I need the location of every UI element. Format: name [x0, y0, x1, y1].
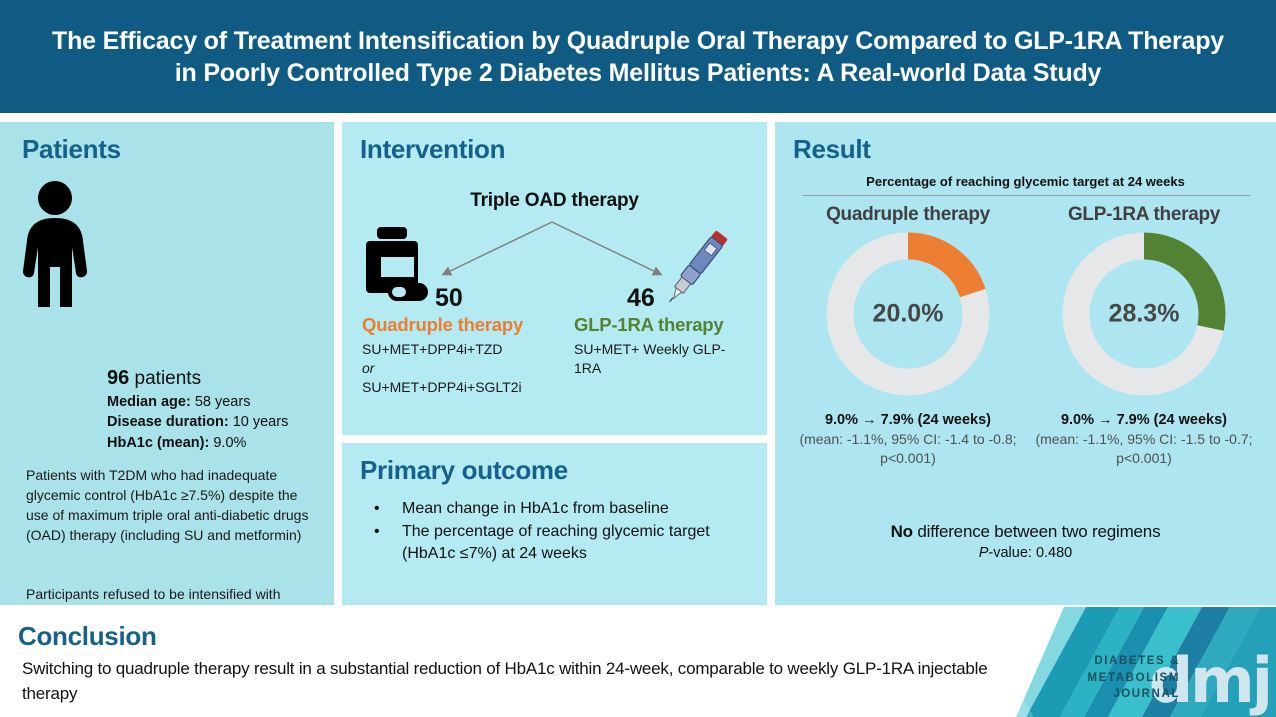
result-pvalue: P-value: 0.480 [775, 545, 1276, 561]
quadruple-therapy-label: Quadruple therapy [362, 314, 523, 336]
result-pvalue-rest: -value: 0.480 [988, 545, 1072, 561]
triple-oad-therapy-label: Triple OAD therapy [342, 190, 767, 212]
journal-name-line-2: METABOLISM JOURNAL [1016, 670, 1180, 703]
insulin-pen-icon [657, 220, 737, 312]
patient-stat-row: Disease duration: 10 years [107, 412, 288, 432]
primary-outcome-panel-title: Primary outcome [360, 455, 568, 486]
glp1ra-regimen-line-1: SU+MET+ Weekly GLP-1RA [574, 340, 750, 378]
primary-outcome-panel: Primary outcome • Mean change in HbA1c f… [342, 443, 767, 605]
list-item: • The percentage of reaching glycemic ta… [374, 521, 754, 564]
result-comparison: No difference between two regimens P-val… [775, 522, 1276, 561]
list-item: • Mean change in HbA1c from baseline [374, 498, 754, 519]
primary-outcome-item-1: Mean change in HbA1c from baseline [402, 498, 754, 519]
quadruple-regimen-line-2: SU+MET+DPP4i+SGLT2i [362, 378, 562, 397]
patients-panel: Patients 96 patients Median age: 58 year… [0, 122, 334, 605]
result-comparison-rest: difference between two regimens [913, 522, 1161, 541]
quadruple-regimen-or: or [362, 360, 374, 376]
primary-outcome-item-2: The percentage of reaching glycemic targ… [402, 521, 754, 564]
glp1ra-therapy-label: GLP-1RA therapy [574, 314, 723, 336]
stat-value-median-age: 58 years [191, 394, 251, 410]
stat-value-disease-duration: 10 years [229, 414, 289, 430]
donut-chart-glp1ra: 28.3% [1031, 230, 1257, 398]
stat-label-disease-duration: Disease duration: [107, 414, 229, 430]
result-panel-title: Result [793, 134, 871, 165]
result-column-title-glp1ra: GLP-1RA therapy [1031, 204, 1257, 226]
patients-panel-title: Patients [22, 134, 121, 165]
result-comparison-statement: No difference between two regimens [775, 522, 1276, 542]
result-divider [802, 195, 1250, 196]
hba1c-detail-glp1ra: (mean: -1.1%, 95% CI: -1.5 to -0.7; p<0.… [1029, 430, 1259, 468]
result-pvalue-prefix: P [979, 545, 989, 561]
pill-bottle-icon [362, 227, 430, 305]
stat-label-hba1c-mean: HbA1c (mean): [107, 435, 209, 451]
result-comparison-bold: No [891, 522, 913, 541]
bullet-icon: • [374, 498, 402, 519]
bullet-icon: • [374, 521, 402, 564]
poster-header: The Efficacy of Treatment Intensificatio… [0, 0, 1276, 113]
quadruple-therapy-regimen: SU+MET+DPP4i+TZD or SU+MET+DPP4i+SGLT2i [362, 340, 562, 396]
patient-stats: Median age: 58 years Disease duration: 1… [107, 392, 288, 453]
stat-label-median-age: Median age: [107, 394, 191, 410]
donut-chart-quadruple: 20.0% [795, 230, 1021, 398]
person-icon [16, 179, 94, 309]
donut-center-value-quadruple: 20.0% [795, 300, 1021, 329]
conclusion-text: Switching to quadruple therapy result in… [22, 657, 1012, 706]
hba1c-change-quadruple: 9.0% → 7.9% (24 weeks) [793, 412, 1023, 428]
result-stats-quadruple: 9.0% → 7.9% (24 weeks) (mean: -1.1%, 95%… [793, 412, 1023, 468]
result-stats-glp1ra: 9.0% → 7.9% (24 weeks) (mean: -1.1%, 95%… [1029, 412, 1259, 468]
intervention-panel-title: Intervention [360, 134, 505, 165]
hba1c-detail-quadruple: (mean: -1.1%, 95% CI: -1.4 to -0.8; p<0.… [793, 430, 1023, 468]
donut-center-value-glp1ra: 28.3% [1031, 300, 1257, 329]
glp1ra-arm-count: 46 [627, 284, 655, 313]
journal-logo: dmj DIABETES & METABOLISM JOURNAL [1016, 607, 1276, 717]
result-column-title-quadruple: Quadruple therapy [795, 204, 1021, 226]
result-chart-subtitle: Percentage of reaching glycemic target a… [775, 174, 1276, 189]
stat-value-hba1c-mean: 9.0% [209, 435, 246, 451]
intervention-panel: Intervention Triple OAD therapy [342, 122, 767, 435]
glp1ra-therapy-regimen: SU+MET+ Weekly GLP-1RA [574, 340, 750, 378]
patient-count: 96 patients [107, 367, 201, 390]
primary-outcome-list: • Mean change in HbA1c from baseline • T… [374, 498, 754, 566]
quadruple-arm-count: 50 [435, 284, 463, 313]
patient-count-label: patients [129, 368, 201, 389]
result-panel: Result Percentage of reaching glycemic t… [775, 122, 1276, 605]
patient-stat-row: HbA1c (mean): 9.0% [107, 433, 288, 453]
poster-title: The Efficacy of Treatment Intensificatio… [43, 25, 1233, 89]
patient-count-number: 96 [107, 367, 129, 389]
conclusion-title: Conclusion [18, 621, 157, 652]
patients-criteria-paragraph: Patients with T2DM who had inadequate gl… [26, 466, 322, 546]
journal-name-line-1: DIABETES & [1016, 653, 1180, 670]
patient-stat-row: Median age: 58 years [107, 392, 288, 412]
journal-name: DIABETES & METABOLISM JOURNAL [1016, 653, 1180, 703]
poster-root: The Efficacy of Treatment Intensificatio… [0, 0, 1276, 717]
hba1c-change-glp1ra: 9.0% → 7.9% (24 weeks) [1029, 412, 1259, 428]
quadruple-regimen-line-1: SU+MET+DPP4i+TZD [362, 340, 562, 359]
